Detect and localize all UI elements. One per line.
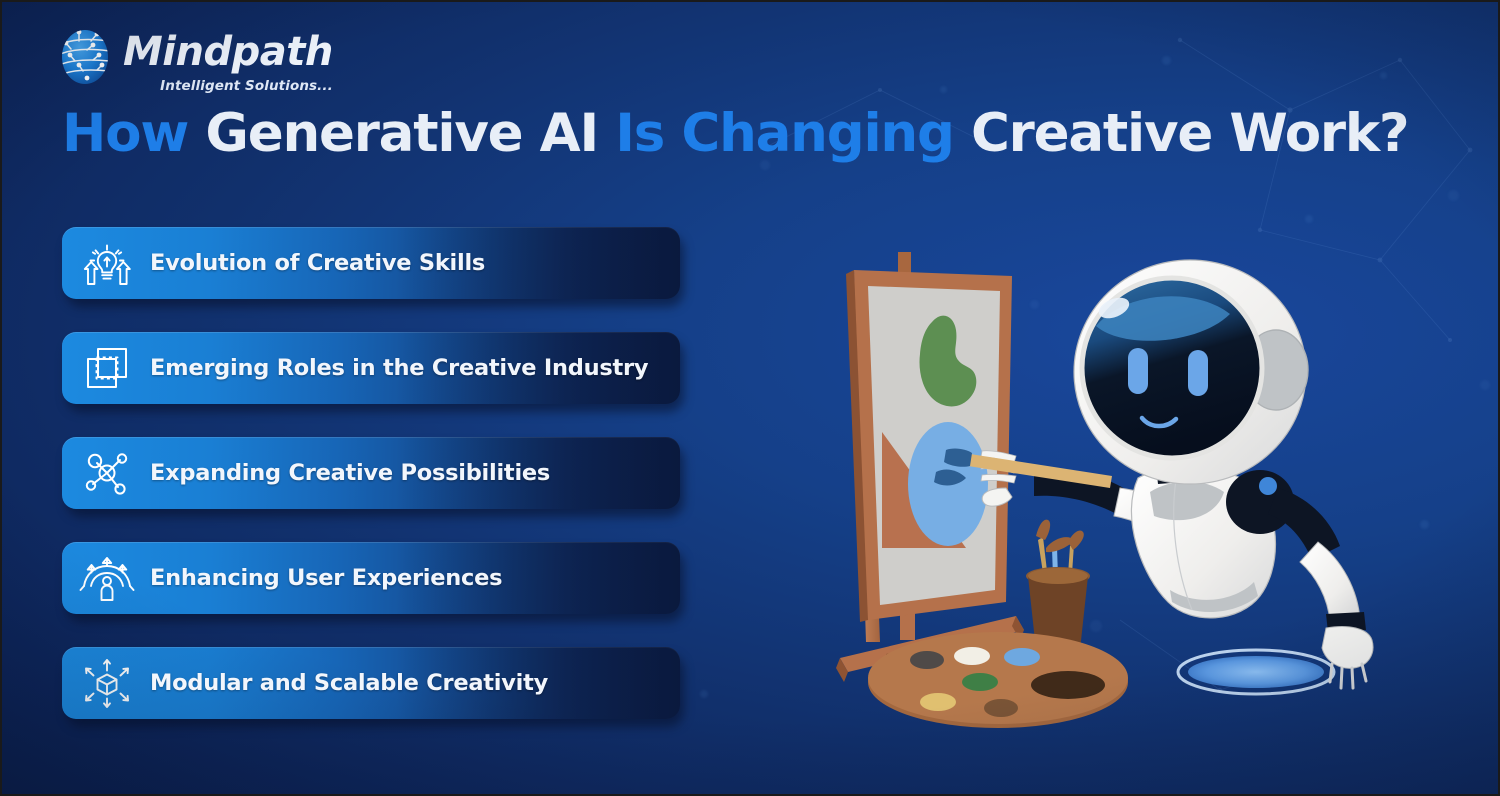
robot-painting-illustration xyxy=(820,230,1460,750)
brand-name: Mindpath xyxy=(123,32,333,72)
lightbulb-growth-arrows-icon xyxy=(76,238,138,288)
topic-list: Evolution of Creative Skills Emerging Ro… xyxy=(62,227,684,752)
brand-logo[interactable]: Mindpath Intelligent Solutions... xyxy=(57,28,333,94)
network-globe-icon xyxy=(57,28,113,86)
list-item-pill-3[interactable]: Expanding Creative Possibilities xyxy=(62,437,680,509)
title-segment-1: How xyxy=(62,103,205,164)
infographic-canvas: Mindpath Intelligent Solutions... How Ge… xyxy=(0,0,1500,796)
list-item-pill-4[interactable]: Enhancing User Experiences xyxy=(62,542,680,614)
list-item[interactable]: Evolution of Creative Skills xyxy=(62,227,684,299)
list-item-pill-5[interactable]: Modular and Scalable Creativity xyxy=(62,647,680,719)
list-item[interactable]: Expanding Creative Possibilities xyxy=(62,437,684,509)
hover-glow-ellipse xyxy=(1178,650,1334,694)
cube-expanding-arrows-icon xyxy=(76,657,138,709)
list-item[interactable]: Enhancing User Experiences xyxy=(62,542,684,614)
list-item[interactable]: Modular and Scalable Creativity xyxy=(62,647,684,719)
list-item-label: Emerging Roles in the Creative Industry xyxy=(150,355,648,381)
list-item-label: Modular and Scalable Creativity xyxy=(150,670,548,696)
list-item-label: Evolution of Creative Skills xyxy=(150,250,485,276)
list-item-pill-1[interactable]: Evolution of Creative Skills xyxy=(62,227,680,299)
robot-head xyxy=(1074,260,1308,484)
list-item-pill-2[interactable]: Emerging Roles in the Creative Industry xyxy=(62,332,680,404)
title-segment-3: Is Changing xyxy=(615,103,971,164)
title-segment-4: Creative Work? xyxy=(971,103,1409,164)
page-title: How Generative AI Is Changing Creative W… xyxy=(62,104,1422,163)
network-nodes-icon xyxy=(76,448,138,498)
list-item[interactable]: Emerging Roles in the Creative Industry xyxy=(62,332,684,404)
brand-tagline: Intelligent Solutions... xyxy=(123,78,333,94)
title-segment-2: Generative AI xyxy=(205,103,615,164)
list-item-label: Expanding Creative Possibilities xyxy=(150,460,550,486)
list-item-label: Enhancing User Experiences xyxy=(150,565,502,591)
person-under-arch-icon xyxy=(76,553,138,603)
overlapping-frames-icon xyxy=(76,343,138,393)
paint-palette xyxy=(868,632,1128,728)
